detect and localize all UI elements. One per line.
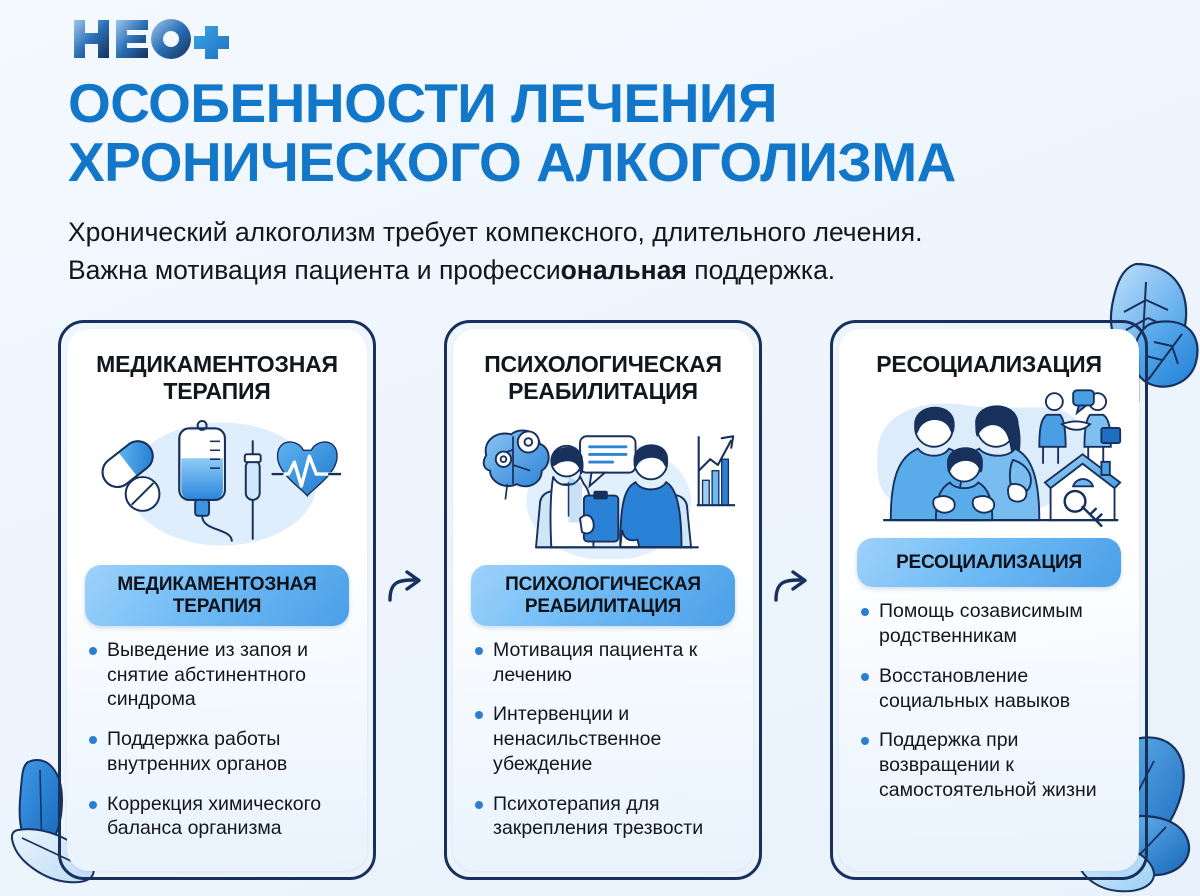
page-title-line-2: ХРОНИЧЕСКОГО АЛКОГОЛИЗМА xyxy=(68,133,1128,192)
card-bullet-list: Помощь созависимым родственникам Восстан… xyxy=(855,599,1123,817)
subtitle-line-2-prefix: Важна мотивация пациента и професси xyxy=(68,255,561,285)
card-bullet-list: Выведение из запоя и снятие абстинентног… xyxy=(83,638,351,856)
list-item: Психотерапия для закрепления трезвости xyxy=(473,792,735,842)
card-psihologicheskaya-reabilitaciya[interactable]: ПСИХОЛОГИЧЕСКАЯ РЕАБИЛИТАЦИЯ xyxy=(444,320,762,880)
subtitle-line-2-bold: ональная xyxy=(561,255,687,285)
card-illustration xyxy=(855,384,1123,534)
subtitle-line-2-suffix: поддержка. xyxy=(687,255,835,285)
brand-logo[interactable] xyxy=(70,16,240,62)
list-item: Восстановление социальных навыков xyxy=(859,664,1121,714)
list-item: Выведение из запоя и снятие абстинентног… xyxy=(87,638,349,712)
card-bullet-list: Мотивация пациента к лечению Интервенции… xyxy=(469,638,737,856)
list-item: Мотивация пациента к лечению xyxy=(473,638,735,688)
card-title: РЕСОЦИАЛИЗАЦИЯ xyxy=(855,351,1123,378)
page-title: ОСОБЕННОСТИ ЛЕЧЕНИЯ ХРОНИЧЕСКОГО АЛКОГОЛ… xyxy=(68,74,1128,192)
card-resocializaciya[interactable]: РЕСОЦИАЛИЗАЦИЯ xyxy=(830,320,1148,880)
card-badge[interactable]: РЕСОЦИАЛИЗАЦИЯ xyxy=(857,538,1121,587)
card-illustration xyxy=(469,411,737,561)
list-item: Поддержка при возвращении к самостоятель… xyxy=(859,728,1121,802)
list-item: Помощь созависимым родственникам xyxy=(859,599,1121,649)
card-title: МЕДИКАМЕНТОЗНАЯ ТЕРАПИЯ xyxy=(83,351,351,405)
neo-plus-logo-icon xyxy=(70,16,240,62)
family-handshake-house-key-icon xyxy=(855,384,1123,534)
list-item: Коррекция химического баланса организма xyxy=(87,792,349,842)
treatment-stages-row: МЕДИКАМЕНТОЗНАЯ ТЕРАПИЯ xyxy=(58,320,1148,880)
brain-therapist-patient-growth-chart-icon xyxy=(469,414,737,559)
page-title-line-1: ОСОБЕННОСТИ ЛЕЧЕНИЯ xyxy=(68,72,777,134)
connector-arrow-2 xyxy=(762,320,830,880)
connector-arrow-1 xyxy=(376,320,444,880)
card-medikamentoznaya-terapiya[interactable]: МЕДИКАМЕНТОЗНАЯ ТЕРАПИЯ xyxy=(58,320,376,880)
curved-arrow-right-icon xyxy=(388,570,432,608)
list-item: Интервенции и ненасильственное убеждение xyxy=(473,702,735,776)
curved-arrow-right-icon xyxy=(774,570,818,608)
pills-iv-drip-heart-icon xyxy=(83,416,351,556)
list-item: Поддержка работы внутренних органов xyxy=(87,727,349,777)
card-badge[interactable]: ПСИХОЛОГИЧЕСКАЯ РЕАБИЛИТАЦИЯ xyxy=(471,565,735,626)
card-title: ПСИХОЛОГИЧЕСКАЯ РЕАБИЛИТАЦИЯ xyxy=(469,351,737,405)
page-subtitle: Хронический алкоголизм требует компексно… xyxy=(68,213,1068,290)
subtitle-line-1: Хронический алкоголизм требует компексно… xyxy=(68,217,923,247)
card-illustration xyxy=(83,411,351,561)
card-badge[interactable]: МЕДИКАМЕНТОЗНАЯ ТЕРАПИЯ xyxy=(85,565,349,626)
